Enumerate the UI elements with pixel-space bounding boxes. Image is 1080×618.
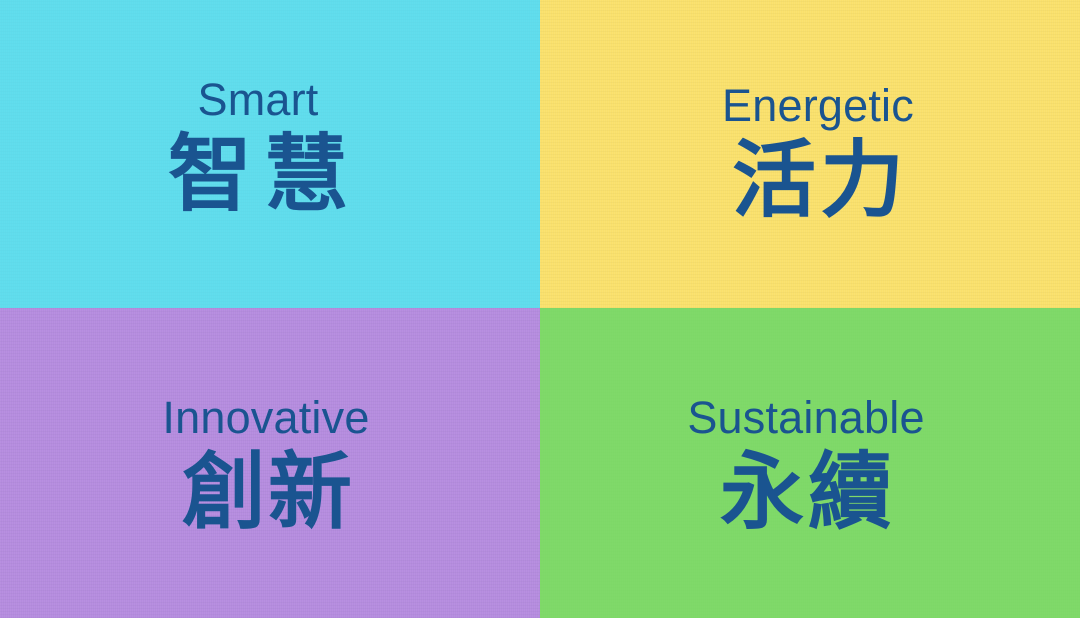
value-chinese-label-energetic: 活力 <box>728 135 908 226</box>
value-block-smart: Smart 智慧 <box>156 76 360 220</box>
value-english-label-innovative: Innovative <box>162 394 369 441</box>
quadrant-innovative: Innovative 創新 <box>0 308 540 618</box>
value-block-innovative: Innovative 創新 <box>162 394 369 538</box>
quadrant-energetic: Energetic 活力 <box>540 0 1080 308</box>
value-block-energetic: Energetic 活力 <box>722 82 914 226</box>
value-english-label-sustainable: Sustainable <box>687 394 924 441</box>
value-chinese-label-smart: 智慧 <box>156 129 360 220</box>
value-chinese-label-innovative: 創新 <box>178 447 354 538</box>
value-english-label-energetic: Energetic <box>722 82 914 129</box>
value-chinese-label-sustainable: 永續 <box>716 447 896 538</box>
values-grid-poster: Smart 智慧 Energetic 活力 Innovative 創新 Sust… <box>0 0 1080 618</box>
value-block-sustainable: Sustainable 永續 <box>687 394 924 538</box>
quadrant-sustainable: Sustainable 永續 <box>540 308 1080 618</box>
value-english-label-smart: Smart <box>197 76 318 123</box>
quadrant-smart: Smart 智慧 <box>0 0 540 308</box>
